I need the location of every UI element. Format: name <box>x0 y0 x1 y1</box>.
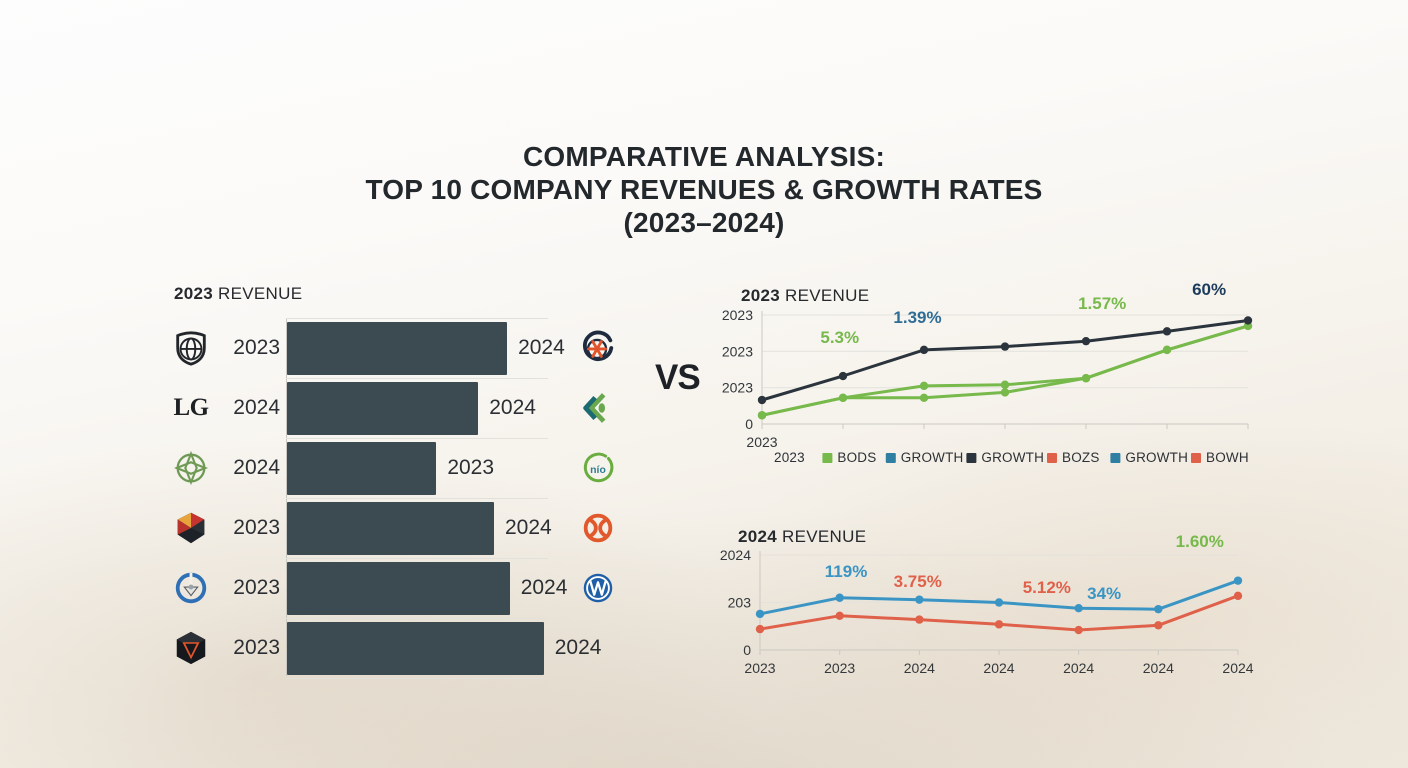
x-axis-tick-label: 2023 <box>746 434 777 450</box>
green-cross-circle-logo <box>172 449 210 487</box>
x-axis-tick-label: 2024 <box>1222 660 1253 676</box>
bar-row-label-left: 2023 <box>222 516 280 540</box>
legend-swatch <box>822 453 832 463</box>
legend-swatch <box>1047 453 1057 463</box>
y-axis-tick-label: 2023 <box>722 307 753 323</box>
data-point[interactable] <box>1163 327 1171 335</box>
title-line-3: (2023–2024) <box>0 206 1408 239</box>
data-point[interactable] <box>1074 604 1082 612</box>
blue-target-logo <box>172 569 210 607</box>
data-point[interactable] <box>920 346 928 354</box>
svg-text:nío: nío <box>590 465 606 476</box>
data-annotation: 34% <box>1087 584 1121 603</box>
data-annotation: 60% <box>1192 280 1226 299</box>
data-point[interactable] <box>1244 316 1252 324</box>
y-axis-tick-label: 0 <box>743 642 751 658</box>
data-point[interactable] <box>756 625 764 633</box>
data-point[interactable] <box>839 394 847 402</box>
nio-circle-logo: nío <box>578 448 618 488</box>
x-axis-tick-label: 2023 <box>824 660 855 676</box>
bar-chart-panel: 2023 REVENUE 20232024LG2024202420242023n… <box>160 275 630 690</box>
data-point[interactable] <box>839 372 847 380</box>
data-point[interactable] <box>915 595 923 603</box>
x-axis-tick-label: 2024 <box>1143 660 1174 676</box>
bar-fill[interactable] <box>287 502 494 555</box>
legend-label[interactable]: GROWTH <box>1125 450 1188 465</box>
asterisk-circle-logo <box>578 328 618 368</box>
data-point[interactable] <box>756 610 764 618</box>
data-point[interactable] <box>1163 346 1171 354</box>
bar-row[interactable] <box>286 558 548 618</box>
x-axis-tick-label: 2023 <box>744 660 775 676</box>
legend-label[interactable]: BOWH <box>1206 450 1249 465</box>
bar-row[interactable] <box>286 318 548 378</box>
bar-row-label-right: 2024 <box>489 396 536 420</box>
data-point[interactable] <box>1154 621 1162 629</box>
dark-cube-logo <box>172 629 210 667</box>
y-axis-tick-label: 2024 <box>720 547 751 563</box>
orange-x-circle-logo <box>578 508 618 548</box>
orange-x-circle-logo <box>578 508 618 548</box>
bottom-line-chart-panel: 2024 REVENUE 202420302023202320242024202… <box>700 510 1260 700</box>
red-shield-logo <box>172 509 210 547</box>
data-annotation: 1.39% <box>893 308 941 327</box>
asterisk-circle-logo <box>578 328 618 368</box>
lg-wordmark-logo: LG <box>172 389 210 427</box>
bar-fill[interactable] <box>287 622 544 675</box>
bar-row-label-right: 2024 <box>555 636 602 660</box>
data-point[interactable] <box>758 411 766 419</box>
page-title: COMPARATIVE ANALYSIS: TOP 10 COMPANY REV… <box>0 140 1408 239</box>
data-annotation: 1.57% <box>1078 294 1126 313</box>
legend-label[interactable]: GROWTH <box>901 450 964 465</box>
data-point[interactable] <box>835 594 843 602</box>
bar-row-label-right: 2024 <box>505 516 552 540</box>
y-axis-tick-label: 2023 <box>722 380 753 396</box>
vs-divider-label: VS <box>655 358 700 398</box>
chevron-teal-logo <box>578 388 618 428</box>
bar-chart-heading-rest: REVENUE <box>213 284 302 303</box>
bar-row-label-right: 2024 <box>521 576 568 600</box>
nio-circle-logo: nío <box>578 448 618 488</box>
blue-w-circle-logo <box>578 568 618 608</box>
title-line-2: TOP 10 COMPANY REVENUES & GROWTH RATES <box>0 173 1408 206</box>
bar-fill[interactable] <box>287 562 510 615</box>
bar-row-label-right: 2024 <box>518 336 565 360</box>
data-point[interactable] <box>1234 576 1242 584</box>
dark-cube-logo <box>172 629 210 667</box>
bar-row-label-left: 2024 <box>222 456 280 480</box>
bar-row-label-left: 2023 <box>222 336 280 360</box>
bar-fill[interactable] <box>287 442 436 495</box>
bar-row-label-left: 2023 <box>222 576 280 600</box>
bar-fill[interactable] <box>287 382 478 435</box>
bar-fill[interactable] <box>287 322 507 375</box>
y-axis-tick-label: 2023 <box>722 343 753 359</box>
legend-label[interactable]: 2023 <box>774 450 805 465</box>
data-annotation: 119% <box>825 562 868 581</box>
data-point[interactable] <box>920 394 928 402</box>
legend-label[interactable]: BOZS <box>1062 450 1100 465</box>
top-line-chart-panel: 2023 REVENUE 202320232023020235.3%1.39%1… <box>700 275 1260 490</box>
blue-target-logo <box>172 569 210 607</box>
shield-globe-logo <box>172 329 210 367</box>
legend-swatch <box>1191 453 1201 463</box>
red-shield-logo <box>172 509 210 547</box>
data-point[interactable] <box>1082 374 1090 382</box>
legend-label[interactable]: GROWTH <box>981 450 1044 465</box>
bar-chart-heading: 2023 REVENUE <box>174 284 302 304</box>
line-series-GROWTH <box>760 581 1238 614</box>
data-annotation: 5.12% <box>1023 578 1071 597</box>
bar-gridline <box>286 678 548 679</box>
data-annotation: 3.75% <box>894 572 942 591</box>
data-point[interactable] <box>1074 626 1082 634</box>
legend-swatch <box>886 453 896 463</box>
data-point[interactable] <box>920 382 928 390</box>
bottom-line-chart-svg: 202420302023202320242024202420242024119%… <box>700 510 1260 700</box>
legend-swatch <box>1110 453 1120 463</box>
infographic-canvas: COMPARATIVE ANALYSIS: TOP 10 COMPANY REV… <box>0 0 1408 768</box>
bar-row[interactable] <box>286 438 548 498</box>
green-cross-circle-logo <box>172 449 210 487</box>
data-annotation: 5.3% <box>820 328 859 347</box>
bar-row[interactable] <box>286 618 548 678</box>
data-point[interactable] <box>758 396 766 404</box>
data-point[interactable] <box>1001 388 1009 396</box>
bar-row-label-left: 2023 <box>222 636 280 660</box>
y-axis-tick-label: 203 <box>728 595 752 611</box>
data-annotation: 1.60% <box>1176 532 1224 551</box>
data-point[interactable] <box>915 615 923 623</box>
bar-chart-plot-area <box>286 318 548 676</box>
bar-row-label-left: 2024 <box>222 396 280 420</box>
data-point[interactable] <box>1234 592 1242 600</box>
lg-wordmark-logo: LG <box>172 389 210 427</box>
data-point[interactable] <box>1082 337 1090 345</box>
x-axis-tick-label: 2024 <box>983 660 1014 676</box>
shield-globe-logo <box>172 329 210 367</box>
x-axis-tick-label: 2024 <box>904 660 935 676</box>
top-line-chart-svg: 202320232023020235.3%1.39%1.57%60%2023BO… <box>700 275 1260 490</box>
y-axis-tick-label: 0 <box>745 416 753 432</box>
title-line-1: COMPARATIVE ANALYSIS: <box>0 140 1408 173</box>
data-point[interactable] <box>1001 342 1009 350</box>
legend-swatch <box>966 453 976 463</box>
data-point[interactable] <box>1154 605 1162 613</box>
x-axis-tick-label: 2024 <box>1063 660 1094 676</box>
blue-w-circle-logo <box>578 568 618 608</box>
bar-chart-heading-year: 2023 <box>174 284 213 303</box>
data-point[interactable] <box>995 620 1003 628</box>
bar-row-label-right: 2023 <box>447 456 494 480</box>
data-point[interactable] <box>1001 381 1009 389</box>
chevron-teal-logo <box>578 388 618 428</box>
legend-label[interactable]: BODS <box>837 450 876 465</box>
data-point[interactable] <box>995 598 1003 606</box>
data-point[interactable] <box>835 612 843 620</box>
